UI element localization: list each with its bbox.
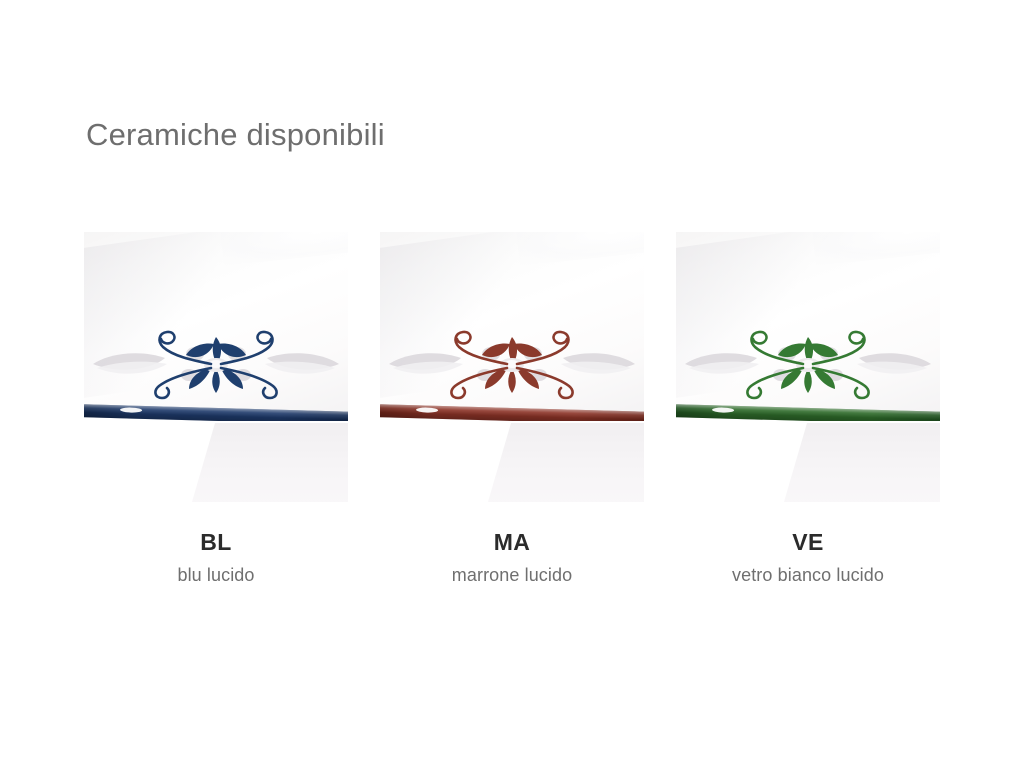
swatch-name: blu lucido bbox=[84, 565, 348, 586]
swatch-code: MA bbox=[380, 529, 644, 556]
swatch-name: marrone lucido bbox=[380, 565, 644, 586]
ceramic-swatch-ma[interactable]: MA marrone lucido bbox=[380, 232, 644, 586]
swatch-name: vetro bianco lucido bbox=[676, 565, 940, 586]
ceramic-swatch-ve[interactable]: VE vetro bianco lucido bbox=[676, 232, 940, 586]
floral-motif-icon bbox=[683, 320, 933, 406]
ceramic-swatch-bl[interactable]: BL blu lucido bbox=[84, 232, 348, 586]
ceramic-photo-ve[interactable] bbox=[676, 232, 940, 502]
floral-motif-icon bbox=[91, 320, 341, 406]
slide-canvas: Ceramiche disponibili bbox=[0, 0, 1024, 768]
ceramic-photo-bl[interactable] bbox=[84, 232, 348, 502]
ceramic-photo-ma[interactable] bbox=[380, 232, 644, 502]
floral-motif-icon bbox=[387, 320, 637, 406]
swatch-code: VE bbox=[676, 529, 940, 556]
ceramic-swatch-row: BL blu lucido bbox=[84, 232, 940, 586]
page-title: Ceramiche disponibili bbox=[86, 118, 385, 152]
swatch-code: BL bbox=[84, 529, 348, 556]
